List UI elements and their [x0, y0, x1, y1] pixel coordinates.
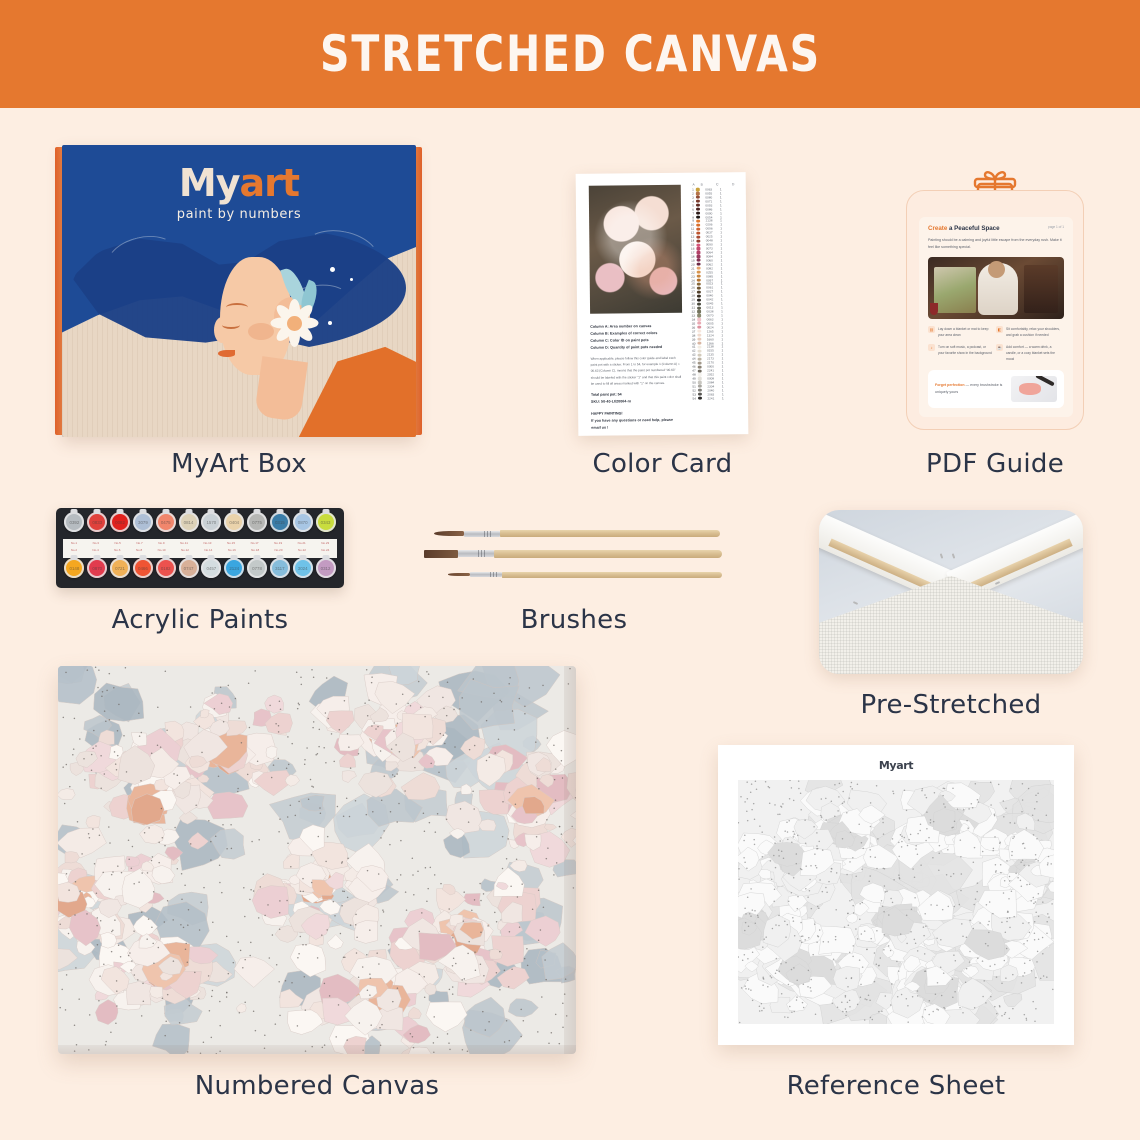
pdf-tip-text: Turn on soft music, a podcast, or your f…: [938, 344, 992, 362]
brush-bristles: [434, 531, 464, 536]
paint-pot-number: 0775: [247, 512, 267, 532]
label-number: No.16: [228, 548, 236, 553]
pdf-tip-text: Lay down a blanket or mat to keep your a…: [938, 326, 992, 338]
pdf-tip: ▤ Lay down a blanket or mat to keep your…: [928, 326, 996, 338]
instruction-body: When applicable, please follow this colo…: [591, 355, 683, 387]
paint-pot[interactable]: 0315: [268, 512, 291, 539]
brush-handle: [494, 550, 722, 558]
eye-shape: [222, 321, 240, 329]
pre-stretched-image: [819, 510, 1083, 674]
label-number: No.14: [204, 548, 212, 553]
reference-sheet-artwork: [738, 780, 1054, 1024]
paint-pot[interactable]: 0775: [246, 512, 269, 539]
label-number: No.4: [92, 548, 98, 553]
round-brush: [434, 529, 720, 538]
label-number: No.2: [71, 548, 77, 553]
paint-pot-number: 2124: [224, 558, 244, 578]
staple-icon: [853, 601, 858, 605]
brush-ferrule: [458, 550, 494, 557]
label-number: No.5: [115, 541, 121, 546]
lips-shape: [218, 350, 235, 357]
reference-sheet-image: Myart: [718, 745, 1074, 1045]
drink-icon: ☕: [996, 344, 1003, 351]
sparkle-dot: [350, 278, 353, 281]
caption-numbered-canvas: Numbered Canvas: [58, 1071, 576, 1101]
acrylic-paints-image: 0392083300823079047508141570040407750315…: [56, 508, 344, 588]
label-number: No.10: [158, 548, 166, 553]
brushes-image: [424, 527, 724, 587]
pdf-heading-rest: a Peaceful Space: [947, 225, 999, 232]
logo-art-text: art: [240, 161, 300, 205]
caption-pre-stretched: Pre-Stretched: [819, 690, 1083, 720]
pdf-footer-callout: Forget perfection — every brushstroke is…: [928, 370, 1064, 408]
paint-pot[interactable]: 0778: [246, 558, 269, 585]
color-card-artwork: [589, 185, 682, 314]
paint-pot-number: 0312: [316, 558, 336, 578]
paint-pot-number: 0475: [156, 512, 176, 532]
color-card-image: Column A: Area number on canvas Column B…: [576, 172, 749, 436]
label-number: No.13: [203, 541, 211, 546]
paint-pot[interactable]: 0721: [109, 558, 132, 585]
brush-ferrule: [464, 531, 500, 537]
paint-pot[interactable]: 0457: [200, 558, 223, 585]
label-numbers-row: No.2No.4No.6No.8No.10No.12No.14No.16No.1…: [63, 546, 337, 553]
numbered-canvas-artwork: [58, 666, 576, 1054]
label-number: No.9: [158, 541, 164, 546]
paint-pot-number: 3079: [133, 512, 153, 532]
pdf-heading-accent: Create: [928, 225, 947, 232]
paint-pot[interactable]: 3024: [291, 558, 314, 585]
label-number: No.3: [93, 541, 99, 546]
label-numbers-row: No.1No.3No.5No.7No.9No.11No.13No.15No.17…: [63, 539, 337, 546]
pdf-tip: ☕ Add comfort — a warm drink, a candle, …: [996, 344, 1064, 362]
paint-pot[interactable]: 0182: [154, 558, 177, 585]
label-number: No.15: [227, 541, 235, 546]
label-number: No.1: [71, 541, 77, 546]
paint-pot-number: 0833: [87, 512, 107, 532]
pdf-footer-accent: Forget perfection: [935, 383, 965, 387]
paint-pot-number: 0392: [64, 512, 84, 532]
numbered-canvas-image: [58, 666, 576, 1054]
header-banner: STRETCHED CANVAS: [0, 0, 1140, 108]
eyebrow-shape: [226, 303, 248, 312]
pdf-footer-thumbnail: [1011, 376, 1057, 402]
paint-pot[interactable]: 0870: [291, 512, 314, 539]
header-b: B: [701, 183, 705, 186]
paint-pot[interactable]: 2124: [223, 558, 246, 585]
canvas-surface: [819, 576, 1083, 674]
paint-pot-number: 0404: [224, 512, 244, 532]
pdf-tips-list: ▤ Lay down a blanket or mat to keep your…: [928, 326, 1064, 368]
caption-acrylic-paints: Acrylic Paints: [56, 605, 344, 635]
paint-pot[interactable]: 0392: [63, 512, 86, 539]
product-infographic: STRETCHED CANVAS: [0, 0, 1140, 1140]
paint-pot-number: 0778: [247, 558, 267, 578]
paint-pot-number: 3024: [293, 558, 313, 578]
paint-pot-number: 0148: [64, 558, 84, 578]
myart-box-image: Myart paint by numbers: [58, 145, 420, 437]
label-number: No.20: [275, 548, 283, 553]
brush-handle: [500, 530, 720, 537]
paint-pot[interactable]: 0475: [154, 512, 177, 539]
cushion-icon: ◧: [996, 326, 1003, 333]
paint-pot-number: 0747: [179, 558, 199, 578]
paint-pot[interactable]: 0404: [223, 512, 246, 539]
label-number: No.12: [181, 548, 189, 553]
paint-pot[interactable]: 3079: [131, 512, 154, 539]
label-number: No.8: [136, 548, 142, 553]
staple-icon: [952, 553, 956, 558]
pdf-page-label: page 1 of 1: [1048, 225, 1064, 229]
paint-pot-number: 0315: [270, 512, 290, 532]
pdf-footer-text: Forget perfection — every brushstroke is…: [935, 382, 1005, 395]
paint-pot-number: 3117: [270, 558, 290, 578]
pdf-hero-photo: [928, 257, 1064, 319]
paint-pot[interactable]: 0343: [314, 512, 337, 539]
paint-pot-row-bottom: 0148087007210466018207470457212407783117…: [63, 558, 337, 585]
label-number: No.21: [298, 541, 306, 546]
paint-pot-row-top: 0392083300823079047508141570040407750315…: [63, 512, 337, 539]
myart-logo: Myart paint by numbers: [62, 161, 416, 222]
swatch-index: 54: [690, 396, 698, 400]
logo-my-text: My: [179, 161, 240, 205]
pdf-guide-image: page 1 of 1 Create a Peaceful Space Pain…: [906, 168, 1084, 430]
canvas-right-edge: [564, 666, 576, 1054]
music-icon: ♪: [928, 344, 935, 351]
box-face: Myart paint by numbers: [62, 145, 416, 437]
pdf-subtitle: Painting should be a calming and joyful …: [928, 237, 1064, 251]
label-number: No.17: [251, 541, 259, 546]
paint-pot[interactable]: 0747: [177, 558, 200, 585]
logo-tagline: paint by numbers: [62, 207, 416, 222]
color-card-instructions: Column A: Area number on canvas Column B…: [590, 323, 683, 432]
caption-color-card: Color Card: [540, 449, 785, 479]
paint-pot[interactable]: 0312: [314, 558, 337, 585]
paint-pot[interactable]: 3117: [268, 558, 291, 585]
staple-icon: [940, 553, 944, 558]
swatch-qty: 1: [719, 396, 726, 400]
caption-myart-box: MyArt Box: [58, 449, 420, 479]
paint-pot[interactable]: 0833: [86, 512, 109, 539]
pdf-guide-page: page 1 of 1 Create a Peaceful Space Pain…: [919, 217, 1073, 417]
paint-pot-number: 0457: [201, 558, 221, 578]
mat-icon: ▤: [928, 326, 935, 333]
paint-pot-number: 0082: [110, 512, 130, 532]
pdf-tip: ♪ Turn on soft music, a podcast, or your…: [928, 344, 996, 362]
paint-pot[interactable]: 0466: [131, 558, 154, 585]
paint-pot[interactable]: 0870: [86, 558, 109, 585]
caption-reference-sheet: Reference Sheet: [718, 1071, 1074, 1101]
paint-pot[interactable]: 1570: [200, 512, 223, 539]
page-title: STRETCHED CANVAS: [320, 25, 821, 83]
reference-sheet-logo: Myart: [738, 759, 1054, 772]
pdf-tip-text: Sit comfortably, relax your shoulders, a…: [1006, 326, 1060, 338]
pdf-tip: ◧ Sit comfortably, relax your shoulders,…: [996, 326, 1064, 338]
label-number: No.6: [114, 548, 120, 553]
detail-brush: [448, 570, 722, 579]
pdf-guide-card: page 1 of 1 Create a Peaceful Space Pain…: [906, 190, 1084, 430]
pdf-heading: Create a Peaceful Space: [928, 225, 1064, 232]
caption-pdf-guide: PDF Guide: [870, 449, 1120, 479]
label-number: No.7: [136, 541, 142, 546]
paint-pot-number: 0870: [87, 558, 107, 578]
label-number: No.11: [180, 541, 188, 546]
daisy-flower-icon: [268, 297, 320, 349]
canvas-bottom-edge: [58, 1045, 576, 1054]
label-number: No.18: [251, 548, 259, 553]
label-number: No.19: [274, 541, 282, 546]
color-swatch-table: A B C D 10063120055130080140071150093160…: [688, 182, 740, 400]
brush-bristles: [448, 573, 470, 576]
swatch-row: 5422411: [690, 396, 740, 400]
brush-bristles: [424, 550, 458, 558]
sku-line: SKU: 50-40-LI/20064-rn: [591, 398, 683, 406]
flat-brush: [424, 549, 722, 558]
paint-pot-number: 0870: [293, 512, 313, 532]
swatch-code: 2241: [702, 396, 719, 400]
label-number: No.24: [321, 548, 329, 553]
caption-brushes: Brushes: [424, 605, 724, 635]
header-a: A: [689, 183, 697, 187]
label-number: No.23: [321, 541, 329, 546]
help-line: If you have any questions or need help, …: [591, 417, 683, 432]
paint-pot-number: 0466: [133, 558, 153, 578]
label-number: No.22: [298, 548, 306, 553]
header-c: C: [709, 182, 726, 186]
sparkle-dot: [330, 267, 335, 272]
brush-handle: [502, 572, 722, 578]
paint-pot[interactable]: 0148: [63, 558, 86, 585]
paint-pot-number: 0721: [110, 558, 130, 578]
column-d-line: Column D: Quantity of paint pots needed: [590, 344, 682, 352]
paint-pot-number: 0814: [179, 512, 199, 532]
paint-pot[interactable]: 0814: [177, 512, 200, 539]
paint-pot[interactable]: 0082: [109, 512, 132, 539]
paint-pot-number: 0182: [156, 558, 176, 578]
paint-pot-number: 0343: [316, 512, 336, 532]
paint-pot-number: 1570: [201, 512, 221, 532]
sparkle-dot: [328, 321, 332, 325]
pdf-tip-text: Add comfort — a warm drink, a candle, or…: [1006, 344, 1060, 362]
paint-tray-label-strip: No.1No.3No.5No.7No.9No.11No.13No.15No.17…: [63, 539, 337, 558]
brush-ferrule: [470, 572, 502, 577]
header-d: D: [730, 182, 737, 186]
